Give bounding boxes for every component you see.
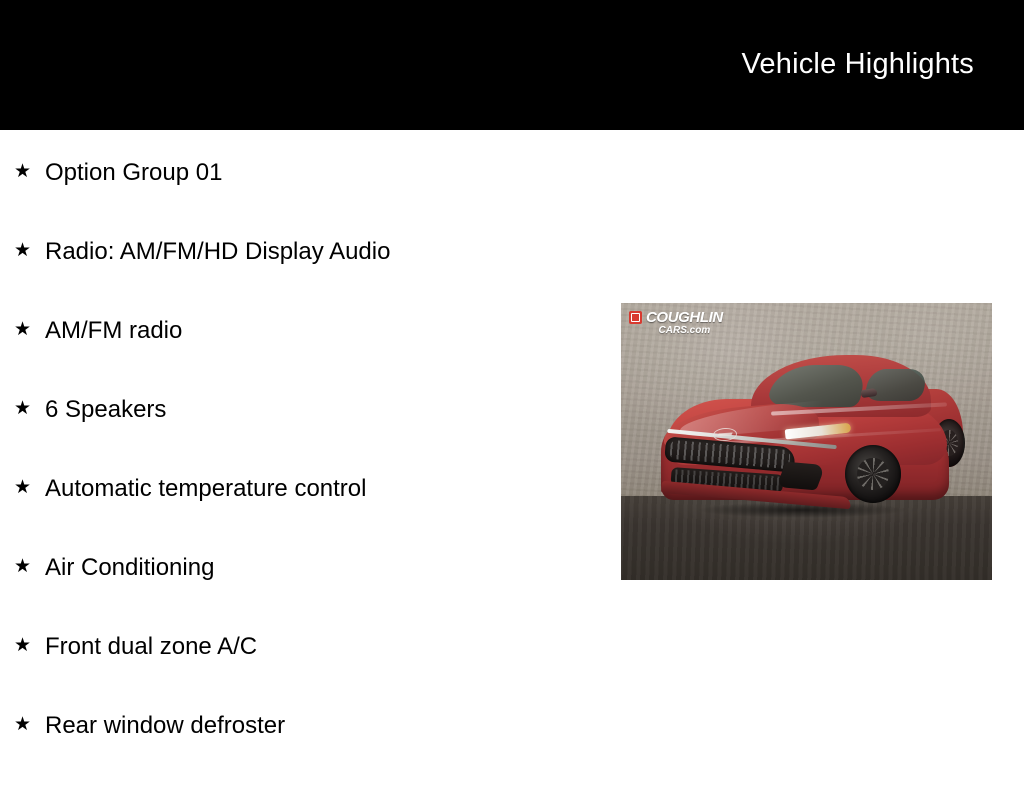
- list-item-label: Air Conditioning: [45, 556, 214, 580]
- page-header: Vehicle Highlights: [0, 0, 1024, 130]
- vehicle-illustration: [621, 303, 992, 580]
- vehicle-front-wheel: [845, 445, 901, 503]
- list-item-label: AM/FM radio: [45, 319, 182, 343]
- list-item-label: Radio: AM/FM/HD Display Audio: [45, 240, 390, 264]
- list-item: ★ Air Conditioning: [0, 556, 610, 635]
- star-bullet-icon: ★: [14, 557, 45, 576]
- content-area: ★ Option Group 01 ★ Radio: AM/FM/HD Disp…: [0, 130, 1024, 768]
- list-item: ★ Rear window defroster: [0, 714, 610, 793]
- watermark-text: COUGHLIN CARS.com: [646, 310, 723, 336]
- page-title: Vehicle Highlights: [741, 48, 974, 81]
- list-item-label: Front dual zone A/C: [45, 635, 257, 659]
- list-item-label: 6 Speakers: [45, 398, 166, 422]
- vehicle-highlights-list: ★ Option Group 01 ★ Radio: AM/FM/HD Disp…: [0, 130, 610, 793]
- vehicle-photo: COUGHLIN CARS.com: [621, 303, 992, 580]
- list-item: ★ Radio: AM/FM/HD Display Audio: [0, 240, 610, 319]
- star-bullet-icon: ★: [14, 399, 45, 418]
- star-bullet-icon: ★: [14, 478, 45, 497]
- coughlin-logo-icon: [629, 311, 642, 324]
- star-bullet-icon: ★: [14, 636, 45, 655]
- dealer-watermark: COUGHLIN CARS.com: [629, 310, 723, 336]
- list-item: ★ Automatic temperature control: [0, 477, 610, 556]
- list-item: ★ AM/FM radio: [0, 319, 610, 398]
- list-item: ★ Option Group 01: [0, 161, 610, 240]
- star-bullet-icon: ★: [14, 715, 45, 734]
- watermark-line-2: CARS.com: [646, 325, 723, 336]
- star-bullet-icon: ★: [14, 320, 45, 339]
- list-item-label: Rear window defroster: [45, 714, 285, 738]
- list-item: ★ Front dual zone A/C: [0, 635, 610, 714]
- watermark-line-1: COUGHLIN: [646, 310, 723, 325]
- star-bullet-icon: ★: [14, 241, 45, 260]
- list-item-label: Option Group 01: [45, 161, 222, 185]
- star-bullet-icon: ★: [14, 162, 45, 181]
- list-item-label: Automatic temperature control: [45, 477, 366, 501]
- list-item: ★ 6 Speakers: [0, 398, 610, 477]
